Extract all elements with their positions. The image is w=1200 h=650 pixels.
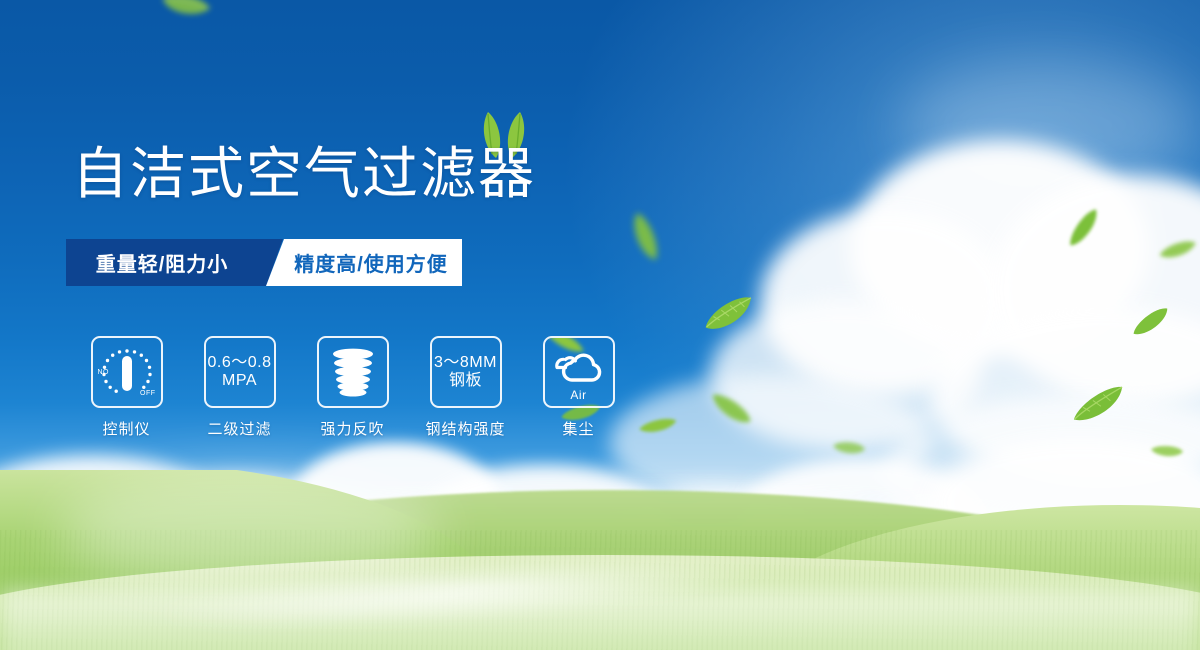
feature-box: NO OFF [91, 336, 163, 408]
subtitle-right: 精度高/使用方便 [266, 239, 462, 286]
dial-off-label: OFF [140, 390, 156, 397]
pressure-text-icon: 0.6～0.8 MPA [208, 354, 272, 390]
pressure-line-2: MPA [208, 372, 272, 390]
feature-label: 二级过滤 [207, 418, 271, 439]
feature-label: 集尘 [562, 418, 594, 439]
feature-item-dust[interactable]: Air 集尘 [522, 336, 635, 439]
feature-item-control-dial[interactable]: NO OFF 控制仪 [70, 336, 183, 439]
subtitle-bar: 重量轻/阻力小 精度高/使用方便 [66, 239, 462, 286]
sky-background [0, 0, 1200, 650]
air-cloud-icon [551, 348, 607, 388]
page-title: 自洁式空气过滤器 [72, 143, 536, 205]
feature-label: 控制仪 [102, 418, 150, 439]
feature-box: 0.6～0.8 MPA [204, 336, 276, 408]
feature-item-pressure[interactable]: 0.6～0.8 MPA 二级过滤 [183, 336, 296, 439]
feature-box: 3～8MM 钢板 [430, 336, 502, 408]
pressure-line-1: 0.6～0.8 [208, 354, 272, 372]
product-banner: 自洁式空气过滤器 重量轻/阻力小 精度高/使用方便 [0, 0, 1200, 650]
dial-on-label: NO [98, 369, 110, 376]
steel-plate-text-icon: 3～8MM 钢板 [434, 354, 497, 390]
feature-list: NO OFF 控制仪 0.6～0.8 MPA 二级过滤 [70, 336, 635, 439]
feature-item-blowback[interactable]: 强力反吹 [296, 336, 409, 439]
air-label: Air [545, 388, 613, 402]
feature-label: 钢结构强度 [425, 418, 505, 439]
filter-cartridge-icon [326, 345, 380, 399]
feature-label: 强力反吹 [320, 418, 384, 439]
feature-box: Air [543, 336, 615, 408]
steel-line-1: 3～8MM [434, 354, 497, 372]
steel-line-2: 钢板 [434, 372, 497, 390]
feature-item-steel[interactable]: 3～8MM 钢板 钢结构强度 [409, 336, 522, 439]
feature-box [317, 336, 389, 408]
subtitle-left: 重量轻/阻力小 [66, 239, 266, 286]
